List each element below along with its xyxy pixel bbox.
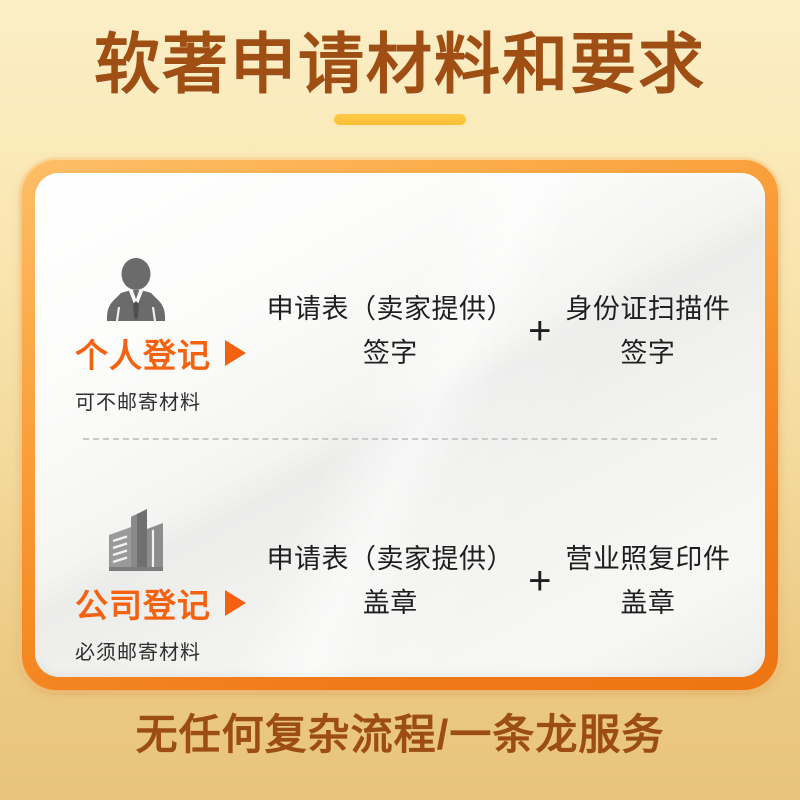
list-item: 申请表（卖家提供） 盖章: [267, 537, 515, 625]
row-label-line: 公司登记: [75, 579, 250, 627]
row-sublabel-text: 可不邮寄材料: [75, 386, 250, 415]
footer: 无任何复杂流程/一条龙服务: [0, 706, 800, 764]
list-item: 身份证扫描件 签字: [565, 287, 730, 375]
materials-card: 个人登记 可不邮寄材料 申请表（卖家提供） 签字 + 身份证扫描件 签字: [22, 160, 778, 690]
row-sublabel-text: 必须邮寄材料: [75, 636, 250, 665]
table-row: 个人登记 可不邮寄材料 申请表（卖家提供） 签字 + 身份证扫描件 签字: [35, 223, 765, 438]
item-line-2: 盖章: [267, 581, 515, 625]
plus-separator-icon: +: [528, 311, 551, 351]
row-label-text: 公司登记: [75, 579, 211, 627]
list-item: 营业照复印件 盖章: [565, 537, 730, 625]
item-line-2: 盖章: [565, 581, 730, 625]
page-title: 软著申请材料和要求: [0, 24, 800, 104]
list-item: 申请表（卖家提供） 签字: [267, 287, 515, 375]
item-line-1: 申请表（卖家提供）: [267, 294, 515, 324]
table-row: 公司登记 必须邮寄材料 申请表（卖家提供） 盖章 + 营业照复印件 盖章: [35, 473, 765, 677]
businessperson-icon: [75, 247, 250, 323]
item-line-1: 申请表（卖家提供）: [267, 544, 515, 574]
row-label-text: 个人登记: [75, 329, 211, 377]
header: 软著申请材料和要求: [0, 24, 800, 125]
item-line-1: 身份证扫描件: [565, 294, 730, 324]
triangle-right-icon: [225, 590, 246, 616]
poster-root: 软著申请材料和要求: [0, 0, 800, 800]
office-building-icon: [75, 497, 250, 573]
title-underline-accent: [334, 114, 466, 125]
row-label-personal: 个人登记 可不邮寄材料: [35, 247, 250, 415]
row-items: 申请表（卖家提供） 盖章 + 营业照复印件 盖章: [250, 537, 765, 625]
item-line-1: 营业照复印件: [565, 544, 730, 574]
item-line-2: 签字: [267, 331, 515, 375]
row-label-company: 公司登记 必须邮寄材料: [35, 497, 250, 665]
triangle-right-icon: [225, 340, 246, 366]
row-label-line: 个人登记: [75, 329, 250, 377]
row-items: 申请表（卖家提供） 签字 + 身份证扫描件 签字: [250, 287, 765, 375]
plus-separator-icon: +: [528, 561, 551, 601]
row-divider: [83, 438, 717, 440]
footer-slogan: 无任何复杂流程/一条龙服务: [0, 706, 800, 764]
materials-card-inner: 个人登记 可不邮寄材料 申请表（卖家提供） 签字 + 身份证扫描件 签字: [35, 173, 765, 677]
item-line-2: 签字: [565, 331, 730, 375]
